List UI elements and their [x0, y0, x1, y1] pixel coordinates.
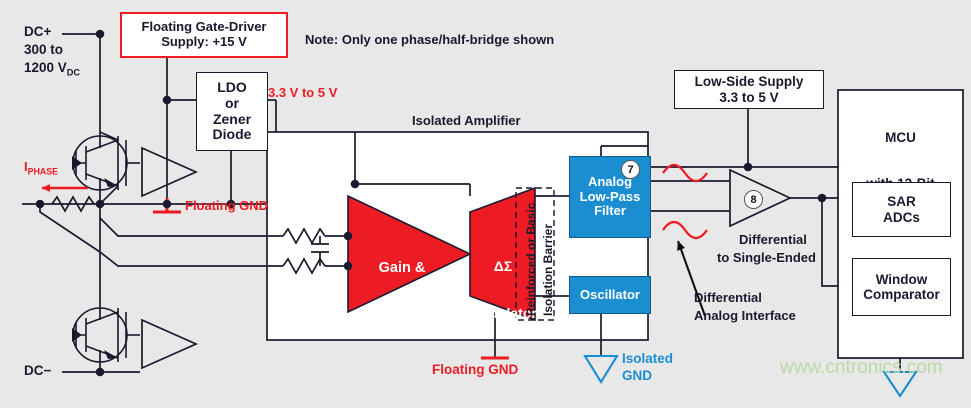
isolation-barrier-line1: Reinforced or Basic	[524, 203, 538, 316]
ldo-line4: Diode	[213, 127, 252, 143]
low-side-supply-line2: 3.3 to 5 V	[719, 90, 778, 105]
sar-adcs-line2: ADCs	[883, 210, 920, 225]
diff-to-single-ended-line2: to Single-Ended	[717, 251, 816, 266]
window-comparator-line1: Window	[876, 272, 928, 287]
gate-driver-supply-line1: Floating Gate-Driver	[142, 20, 267, 35]
differential-analog-interface-line1: Differential	[694, 291, 762, 306]
ldo-or-zener-diode-box[interactable]: LDO or Zener Diode	[196, 72, 268, 151]
dc-plus-range-line1: 300 to	[24, 42, 63, 57]
diagram-canvas: DC+ 300 to 1200 VDC DC− IPHASE Note: Onl…	[0, 0, 971, 408]
watermark-text: www.cntronics.com	[780, 357, 943, 379]
window-comparator-line2: Comparator	[863, 287, 940, 302]
floating-gnd-bottom-label: Floating GND	[432, 362, 518, 377]
window-comparator-box[interactable]: Window Comparator	[852, 258, 951, 316]
i-phase-label: IPHASE	[24, 160, 58, 177]
sar-adcs-line1: SAR	[887, 194, 916, 209]
dc-plus-label: DC+	[24, 24, 51, 39]
callout-badge-8: 8	[744, 190, 763, 209]
ldo-line2: or	[225, 96, 239, 112]
isolated-amplifier-title: Isolated Amplifier	[412, 114, 521, 129]
ldo-line1: LDO	[217, 80, 247, 96]
isolated-gnd-label-line2: GND	[622, 368, 652, 383]
diff-to-single-ended-line1: Differential	[739, 233, 807, 248]
callout-badge-7: 7	[621, 160, 640, 179]
dc-plus-range-line2: 1200 VDC	[24, 60, 80, 78]
floating-gnd-left-label: Floating GND	[185, 199, 268, 214]
supply-3v3-to-5v-label: 3.3 V to 5 V	[268, 86, 337, 101]
gain-aa-filter-line2: AA Filter	[352, 309, 452, 325]
gate-driver-supply-line2: Supply: +15 V	[161, 35, 247, 50]
gain-aa-filter-line1: Gain &	[352, 260, 452, 276]
isolation-barrier-line2: Isolation Barrier	[541, 224, 555, 316]
low-side-supply-box[interactable]: Low-Side Supply 3.3 to 5 V	[674, 70, 824, 109]
low-side-supply-line1: Low-Side Supply	[695, 74, 804, 89]
floating-gate-driver-supply-box[interactable]: Floating Gate-Driver Supply: +15 V	[120, 12, 288, 58]
gain-aa-filter-label: Gain & AA Filter	[352, 228, 452, 358]
note-text: Note: Only one phase/half-bridge shown	[305, 33, 554, 48]
analog-lpf-line2: Low-Pass	[580, 190, 641, 205]
dc-minus-label: DC−	[24, 363, 51, 378]
sar-adcs-box[interactable]: SAR ADCs	[852, 182, 951, 237]
isolated-gnd-label-line1: Isolated	[622, 351, 673, 366]
oscillator-line1: Oscillator	[580, 288, 640, 303]
oscillator-box[interactable]: Oscillator	[569, 276, 651, 314]
analog-lpf-line3: Filter	[594, 204, 626, 219]
mcu-line1: MCU	[838, 130, 963, 145]
differential-analog-interface-line2: Analog Interface	[694, 309, 796, 324]
ldo-line3: Zener	[213, 112, 251, 128]
